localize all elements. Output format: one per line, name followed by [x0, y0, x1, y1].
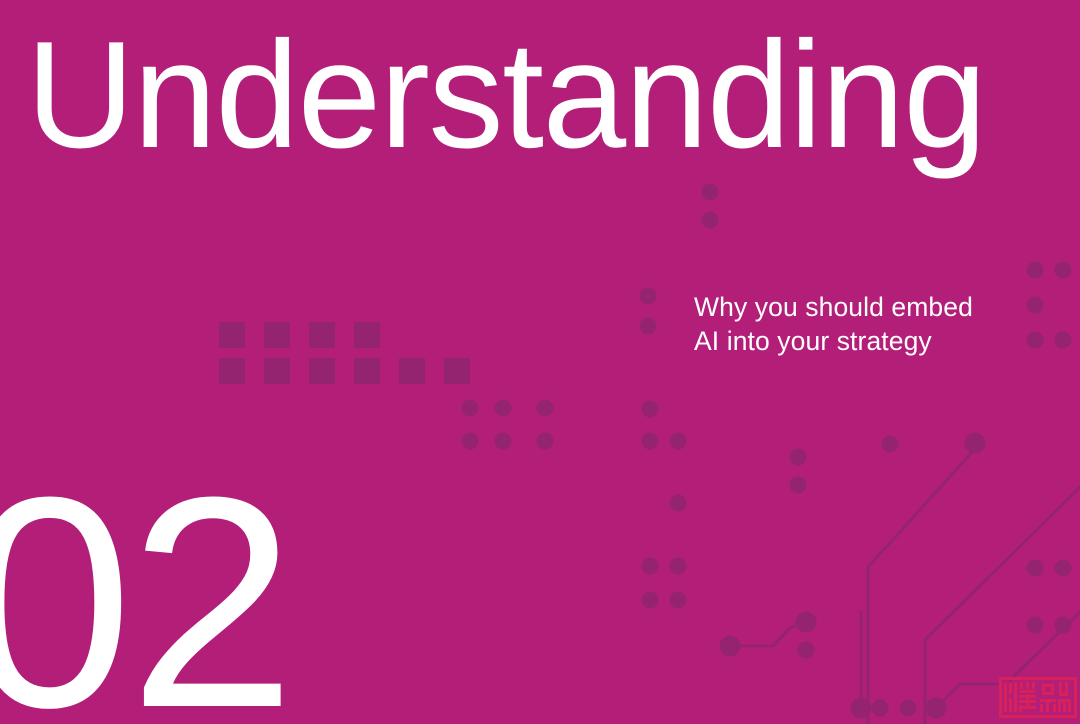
- seal-watermark: [999, 677, 1077, 718]
- decor-square-row2: [444, 358, 470, 384]
- subtitle-line-2: AI into your strategy: [694, 325, 1024, 359]
- decor-dot: [462, 400, 479, 417]
- decor-dot: [798, 642, 815, 659]
- decor-square-row1: [219, 322, 245, 348]
- dot-pattern-group: [462, 184, 1072, 717]
- decor-dot: [642, 401, 659, 418]
- decor-dot: [640, 288, 657, 305]
- decor-square-row2: [399, 358, 425, 384]
- decor-dot: [900, 700, 917, 717]
- decor-square-row2: [354, 358, 380, 384]
- circuit-node: [720, 636, 741, 657]
- circuit-node: [796, 612, 817, 633]
- decor-dot: [1027, 262, 1044, 279]
- subtitle-line-1: Why you should embed: [694, 291, 1024, 325]
- decor-dot: [1027, 560, 1044, 577]
- slide-subtitle: Why you should embed AI into your strate…: [694, 291, 1024, 359]
- circuit-node-group: [720, 433, 986, 719]
- decor-dot: [642, 433, 659, 450]
- decor-dot: [790, 449, 807, 466]
- decor-dot: [1055, 617, 1072, 634]
- square-grid-group: [219, 322, 470, 384]
- decor-dot: [1027, 332, 1044, 349]
- decor-square-row2: [264, 358, 290, 384]
- decor-dot: [670, 495, 687, 512]
- decor-dot: [670, 592, 687, 609]
- decor-dot: [882, 436, 899, 453]
- decor-square-row2: [309, 358, 335, 384]
- decor-dot: [1055, 262, 1072, 279]
- circuit-trace: [936, 684, 1000, 708]
- decor-dot: [537, 400, 554, 417]
- slide-canvas: Understanding Why you should embed AI in…: [0, 0, 1080, 724]
- decor-dot: [1055, 560, 1072, 577]
- decor-dot: [642, 558, 659, 575]
- seal-glyph-icon: [1002, 680, 1074, 715]
- section-number: 02: [0, 452, 292, 724]
- decor-square-row2: [219, 358, 245, 384]
- decor-dot: [670, 558, 687, 575]
- page-title: Understanding: [26, 18, 985, 173]
- decor-dot: [1027, 617, 1044, 634]
- decor-dot: [790, 477, 807, 494]
- decor-dot: [642, 592, 659, 609]
- decor-dot: [640, 318, 657, 335]
- circuit-trace: [1010, 612, 1080, 680]
- decor-dot: [702, 212, 719, 229]
- decor-dot: [1027, 297, 1044, 314]
- decor-dot: [495, 400, 512, 417]
- decor-dot: [462, 433, 479, 450]
- circuit-node: [965, 433, 986, 454]
- circuit-node: [851, 698, 872, 719]
- decor-dot: [872, 700, 889, 717]
- decor-dot: [537, 433, 554, 450]
- decor-square-row1: [309, 322, 335, 348]
- decor-dot: [1055, 332, 1072, 349]
- decor-dot: [495, 433, 512, 450]
- circuit-node: [926, 698, 947, 719]
- decor-square-row1: [354, 322, 380, 348]
- circuit-trace: [868, 449, 975, 724]
- decor-dot: [670, 433, 687, 450]
- decor-square-row1: [264, 322, 290, 348]
- decor-dot: [702, 184, 719, 201]
- circuit-trace: [730, 622, 806, 646]
